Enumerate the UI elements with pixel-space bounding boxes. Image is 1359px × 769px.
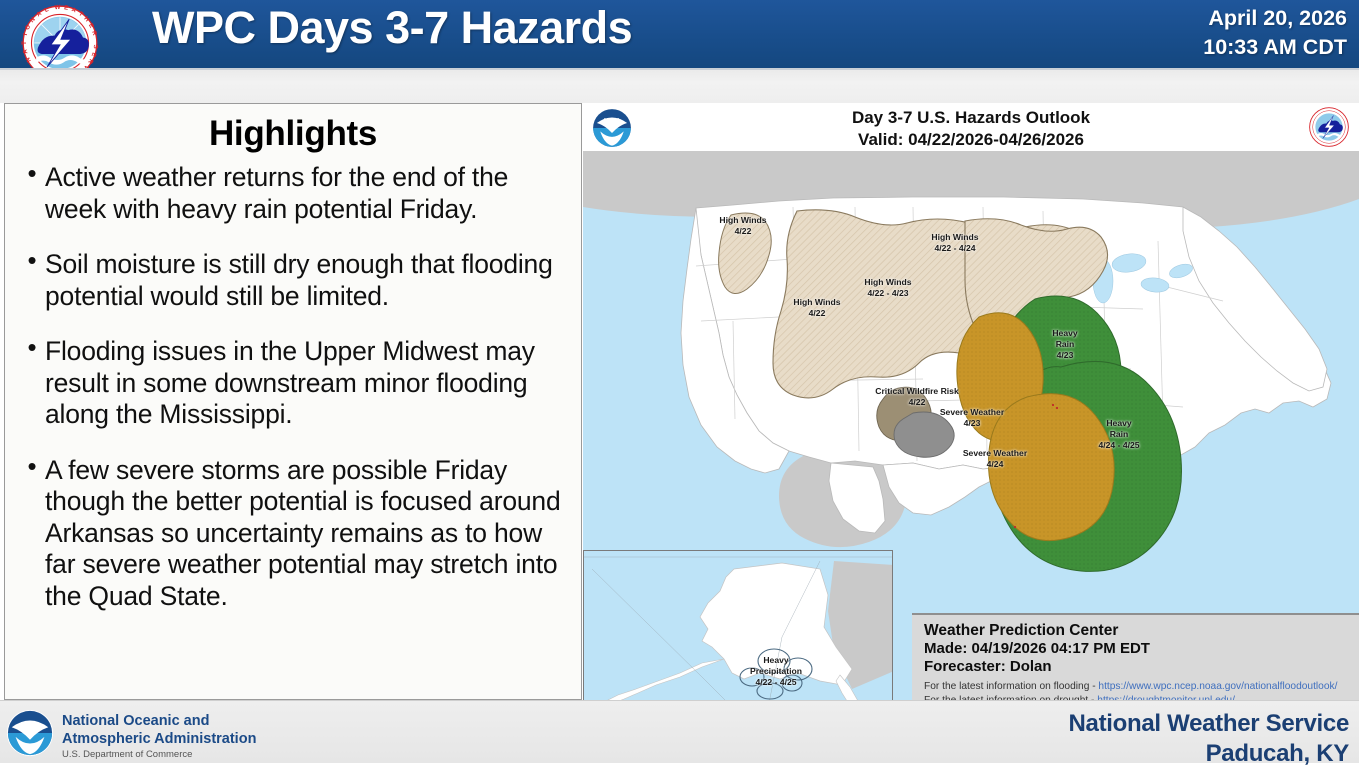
- wpc-forecaster: Forecaster: Dolan: [924, 658, 1351, 676]
- svg-text:NOAA: NOAA: [21, 721, 40, 728]
- wpc-drought-prefix: For the latest information on drought -: [924, 695, 1097, 700]
- bullet-icon: •: [19, 249, 45, 263]
- footer-department: U.S. Department of Commerce: [62, 749, 192, 760]
- highlights-bullet-list: • Active weather returns for the end of …: [5, 162, 581, 612]
- wpc-drought-info-line: For the latest information on drought - …: [924, 694, 1351, 700]
- noaa-logo-icon: NOAA: [6, 709, 54, 757]
- wpc-drought-link[interactable]: https://droughtmonitor.unl.edu/: [1097, 695, 1235, 700]
- map-header: NOAA Day 3-7 U.S. Hazards Outlook Valid:…: [583, 103, 1359, 151]
- wpc-flood-prefix: For the latest information on flooding -: [924, 681, 1098, 692]
- header-datetime: April 20, 2026 10:33 AM CDT: [1203, 4, 1347, 61]
- svg-text:T: T: [22, 41, 28, 45]
- list-item-text: A few severe storms are possible Friday …: [45, 455, 573, 613]
- map-title-line1: Day 3-7 U.S. Hazards Outlook: [583, 107, 1359, 129]
- alaska-map: [584, 551, 893, 700]
- header-time: 10:33 AM CDT: [1203, 33, 1347, 62]
- list-item-text: Flooding issues in the Upper Midwest may…: [45, 336, 573, 431]
- map-valid-period: Valid: 04/22/2026-04/26/2026: [583, 129, 1359, 151]
- page-title: WPC Days 3-7 Hazards: [152, 2, 632, 54]
- footer-office-line1: National Weather Service: [1069, 709, 1349, 739]
- footer-organization: National Oceanic and Atmospheric Adminis…: [62, 713, 256, 748]
- highlights-panel: Highlights • Active weather returns for …: [4, 103, 582, 700]
- list-item: • Soil moisture is still dry enough that…: [19, 249, 573, 312]
- wpc-flood-link[interactable]: https://www.wpc.ncep.noaa.gov/nationalfl…: [1098, 681, 1337, 692]
- hazards-map-panel: NOAA Day 3-7 U.S. Hazards Outlook Valid:…: [583, 103, 1359, 700]
- footer-org-line1: National Oceanic and: [62, 713, 256, 731]
- list-item: • Flooding issues in the Upper Midwest m…: [19, 336, 573, 431]
- header-date: April 20, 2026: [1203, 4, 1347, 33]
- alaska-inset[interactable]: Heavy Precipitation 4/22 - 4/25: [583, 550, 893, 700]
- svg-text:S: S: [92, 44, 98, 49]
- wpc-made-timestamp: Made: 04/19/2026 04:17 PM EDT: [924, 640, 1351, 658]
- list-item: • A few severe storms are possible Frida…: [19, 455, 573, 613]
- wpc-title: Weather Prediction Center: [924, 622, 1351, 640]
- footer-office-line2: Paducah, KY: [1069, 739, 1349, 769]
- highlights-title: Highlights: [5, 114, 581, 154]
- wpc-info-box: Weather Prediction Center Made: 04/19/20…: [912, 613, 1359, 700]
- bullet-icon: •: [19, 336, 45, 350]
- page-header: N A T I O N A L W E A T H E R S E R V I: [0, 0, 1359, 68]
- list-item-text: Active weather returns for the end of th…: [45, 162, 573, 225]
- bullet-icon: •: [19, 162, 45, 176]
- svg-text:W: W: [54, 5, 60, 11]
- header-divider-strip: [0, 68, 1359, 103]
- footer-org-line2: Atmospheric Administration: [62, 731, 256, 749]
- page-footer: NOAA National Oceanic and Atmospheric Ad…: [0, 700, 1359, 763]
- footer-office: National Weather Service Paducah, KY: [1069, 709, 1349, 769]
- bullet-icon: •: [19, 455, 45, 469]
- wpc-flood-info-line: For the latest information on flooding -…: [924, 680, 1351, 694]
- map-title: Day 3-7 U.S. Hazards Outlook Valid: 04/2…: [583, 107, 1359, 151]
- hazard-wildfire-gray-overlay: [894, 412, 954, 457]
- hazard-severe-weather-lowermiss: [988, 394, 1114, 541]
- nws-logo-icon: [1307, 105, 1351, 149]
- list-item-text: Soil moisture is still dry enough that f…: [45, 249, 573, 312]
- list-item: • Active weather returns for the end of …: [19, 162, 573, 225]
- map-canvas[interactable]: High Winds 4/22 High Winds 4/22 - 4/24 H…: [583, 151, 1359, 700]
